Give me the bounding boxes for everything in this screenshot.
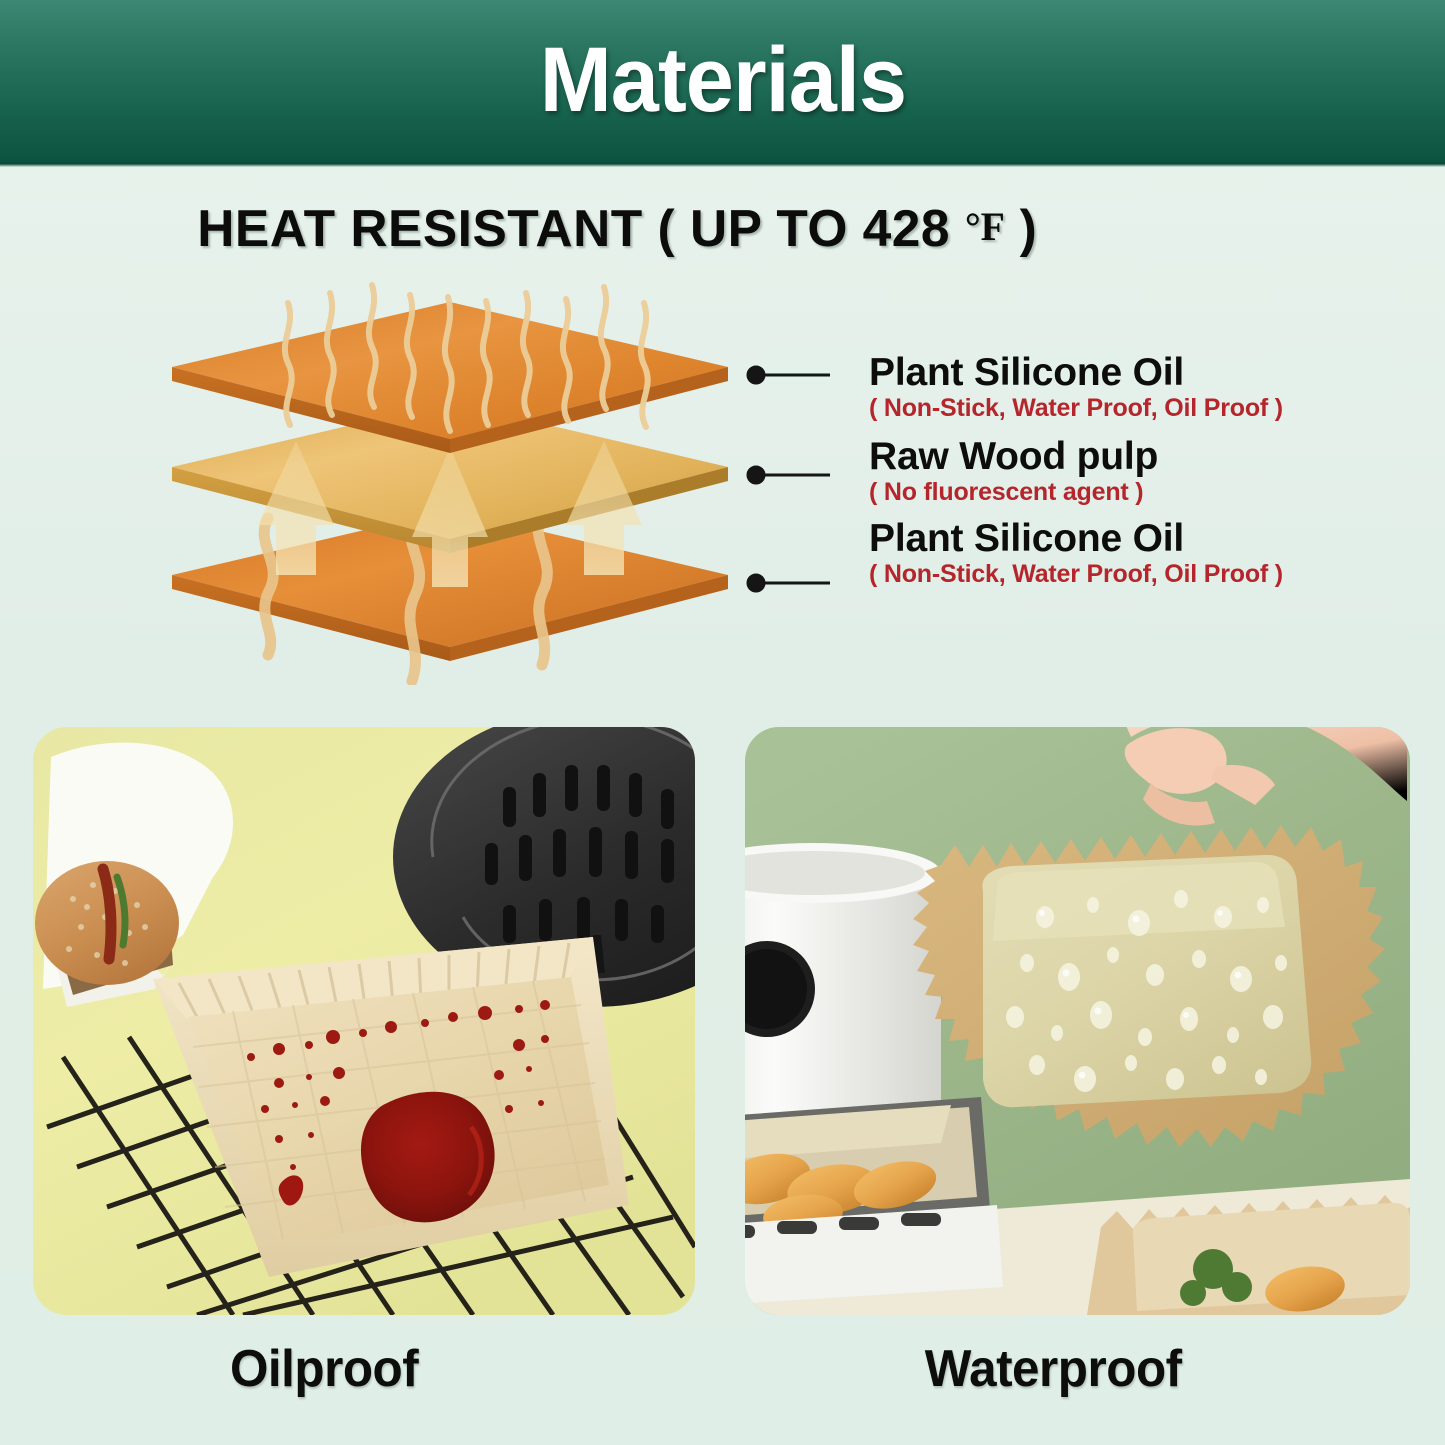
caption-waterproof: Waterproof [925,1339,1182,1399]
callout-layer-bottom: Plant Silicone Oil ( Non-Stick, Water Pr… [869,519,1283,587]
photo-oilproof [33,727,695,1315]
callout-layer-middle: Raw Wood pulp ( No fluorescent agent ) [869,437,1158,505]
callout-layer-top: Plant Silicone Oil ( Non-Stick, Water Pr… [869,353,1283,421]
header-divider [0,160,1445,167]
infographic-page: Materials HEAT RESISTANT ( UP TO 428 °F … [0,0,1445,1445]
degree-fahrenheit-symbol: °F [965,204,1005,249]
heat-heading-prefix: HEAT RESISTANT ( UP TO 428 [197,200,965,258]
callout-title: Raw Wood pulp [869,437,1158,477]
callout-subtitle: ( Non-Stick, Water Proof, Oil Proof ) [869,561,1283,587]
leader-dot-top [748,367,764,383]
leader-dot-bottom [748,575,764,591]
callout-subtitle: ( No fluorescent agent ) [869,479,1158,505]
callout-title: Plant Silicone Oil [869,519,1283,559]
page-title: Materials [539,34,905,126]
callout-subtitle: ( Non-Stick, Water Proof, Oil Proof ) [869,395,1283,421]
callout-title: Plant Silicone Oil [869,353,1283,393]
callout-leader-lines [748,367,830,591]
heat-resistant-heading: HEAT RESISTANT ( UP TO 428 °F ) [197,199,1037,259]
heat-heading-suffix: ) [1005,200,1037,258]
layer-structure-diagram [150,275,830,685]
photo-waterproof [745,727,1410,1315]
header-banner: Materials [0,0,1445,160]
caption-oilproof: Oilproof [230,1339,418,1399]
leader-dot-middle [748,467,764,483]
